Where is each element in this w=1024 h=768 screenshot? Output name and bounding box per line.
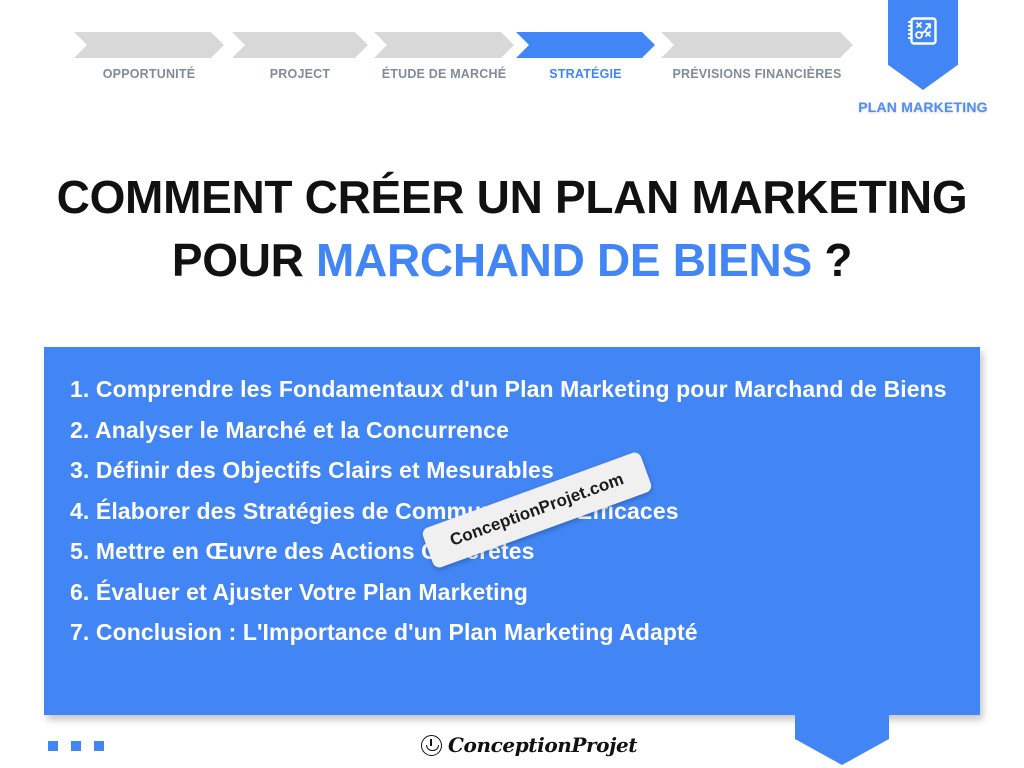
stepper-step-opportunite[interactable]: OPPORTUNITÉ: [74, 32, 224, 81]
footer-wordmark: ConceptionProjet: [448, 733, 637, 757]
footer-logo: ConceptionProjet: [421, 733, 637, 757]
badge-label: PLAN MARKETING: [854, 99, 992, 115]
chevron-shape: [661, 32, 853, 58]
strategy-board-icon: [906, 14, 940, 48]
list-item: 6. Évaluer et Ajuster Votre Plan Marketi…: [70, 572, 954, 613]
dot-indicator: [94, 741, 104, 751]
chevron-shape: [232, 32, 368, 58]
conception-projet-logo-icon: [421, 735, 442, 756]
stepper-step-label: PRÉVISIONS FINANCIÈRES: [661, 67, 853, 81]
process-stepper: OPPORTUNITÉ PROJECT ÉTUDE DE MARCHÉ STRA…: [0, 32, 1024, 102]
slide-canvas: OPPORTUNITÉ PROJECT ÉTUDE DE MARCHÉ STRA…: [0, 0, 1024, 768]
stepper-step-label: STRATÉGIE: [516, 67, 655, 81]
page-title-suffix: ?: [812, 234, 852, 286]
stepper-step-label: OPPORTUNITÉ: [74, 67, 224, 81]
page-title-prefix: POUR: [172, 234, 316, 286]
chevron-shape: [374, 32, 514, 58]
page-title: COMMENT CRÉER UN PLAN MARKETING POUR MAR…: [32, 166, 992, 293]
stepper-step-label: ÉTUDE DE MARCHÉ: [374, 67, 514, 81]
list-item: 7. Conclusion : L'Importance d'un Plan M…: [70, 612, 954, 653]
list-item: 1. Comprendre les Fondamentaux d'un Plan…: [70, 369, 954, 410]
chevron-shape: [516, 32, 655, 58]
page-title-line-2: POUR MARCHAND DE BIENS ?: [32, 229, 992, 292]
stepper-step-label: PROJECT: [232, 67, 368, 81]
chevron-shape: [74, 32, 224, 58]
stepper-step-etude-de-marche[interactable]: ÉTUDE DE MARCHÉ: [374, 32, 514, 81]
stepper-step-project[interactable]: PROJECT: [232, 32, 368, 81]
plan-marketing-badge: PLAN MARKETING: [888, 0, 958, 115]
list-item: 2. Analyser le Marché et la Concurrence: [70, 410, 954, 451]
dot-indicator: [48, 741, 58, 751]
page-title-line-1: COMMENT CRÉER UN PLAN MARKETING: [32, 166, 992, 229]
page-title-highlight: MARCHAND DE BIENS: [316, 234, 812, 286]
page-indicator-dots: [48, 741, 104, 751]
ribbon-shape: [888, 0, 958, 90]
stepper-step-previsions-financieres[interactable]: PRÉVISIONS FINANCIÈRES: [661, 32, 853, 81]
list-item: 3. Définir des Objectifs Clairs et Mesur…: [70, 450, 954, 491]
dot-indicator: [71, 741, 81, 751]
bottom-ribbon-decoration: [795, 715, 889, 765]
stepper-step-strategie[interactable]: STRATÉGIE: [516, 32, 655, 81]
